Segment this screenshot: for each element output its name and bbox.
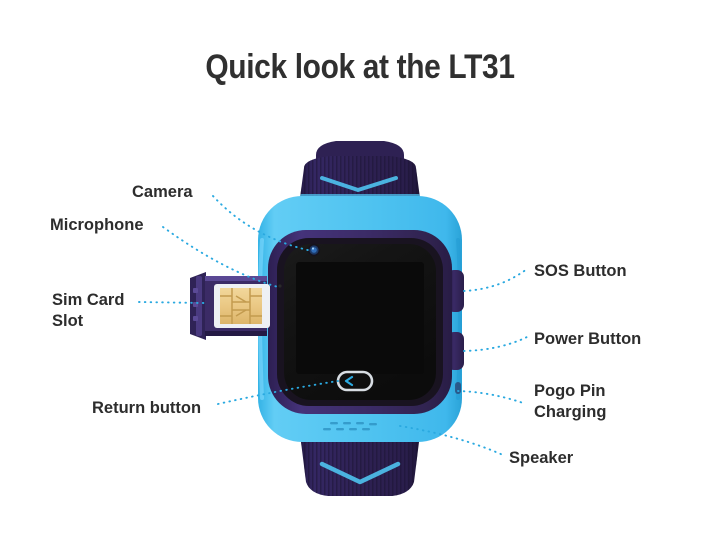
watch-screen[interactable]: [268, 230, 452, 414]
callout-label-pogo-pin: Pogo Pin Charging: [534, 381, 606, 423]
callout-label-return-button: Return button: [92, 398, 201, 419]
callout-label-sos-button: SOS Button: [534, 261, 627, 282]
sim-chip: [220, 288, 262, 324]
callout-label-sim-card-slot: Sim Card Slot: [52, 290, 124, 332]
callout-label-microphone: Microphone: [50, 215, 144, 236]
watch-strap-top: [300, 141, 420, 201]
sim-card-tray[interactable]: [190, 272, 270, 340]
microphone-hole: [278, 284, 281, 287]
callout-label-power-button: Power Button: [534, 329, 641, 350]
pogo-pin-contacts: [455, 382, 461, 394]
callout-label-camera: Camera: [132, 182, 193, 203]
diagram-canvas: Quick look at the LT31: [0, 0, 720, 537]
callout-label-speaker: Speaker: [509, 448, 573, 469]
camera-lens: [308, 244, 320, 256]
